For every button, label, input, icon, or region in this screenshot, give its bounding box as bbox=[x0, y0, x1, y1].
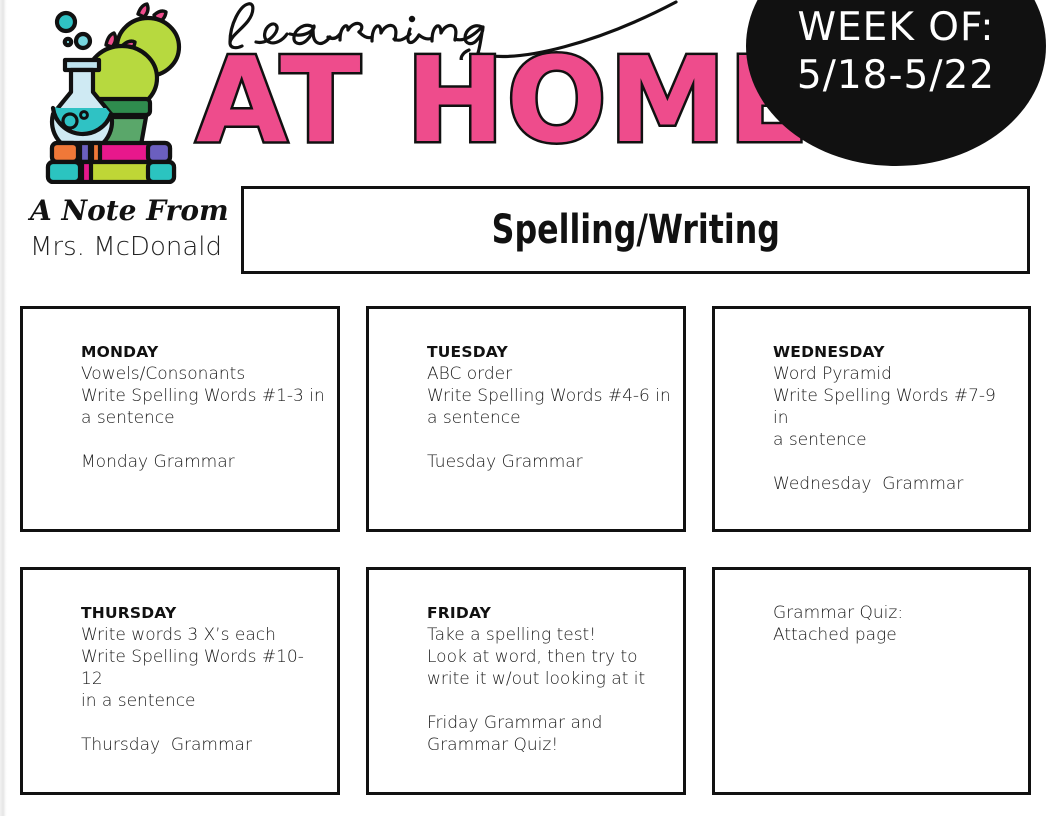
task-line: a sentence bbox=[81, 407, 325, 429]
grammar-note: Thursday Grammar bbox=[81, 734, 325, 756]
grammar-note: Monday Grammar bbox=[81, 451, 325, 473]
day-cell-thursday[interactable]: THURSDAY Write words 3 X’s each Write Sp… bbox=[20, 567, 340, 795]
task-line: Word Pyramid bbox=[773, 363, 1016, 385]
day-label: THURSDAY bbox=[81, 602, 325, 624]
task-line: in a sentence bbox=[81, 690, 325, 712]
task-line: Vowels/Consonants bbox=[81, 363, 325, 385]
blank-line bbox=[773, 451, 1016, 473]
grammar-note: Wednesday Grammar bbox=[773, 473, 1016, 495]
task-line: a sentence bbox=[773, 429, 1016, 451]
worksheet-page: AT HOME WEEK OF: 5/18-5/22 A Note From M… bbox=[0, 0, 1056, 816]
task-line: Write Spelling Words #7-9 in bbox=[773, 385, 1016, 429]
grammar-note: Friday Grammar and Grammar Quiz! bbox=[427, 712, 671, 756]
day-cell-tuesday[interactable]: TUESDAY ABC order Write Spelling Words #… bbox=[366, 306, 686, 532]
day-label: TUESDAY bbox=[427, 341, 671, 363]
task-line: Take a spelling test! bbox=[427, 624, 671, 646]
day-label: MONDAY bbox=[81, 341, 325, 363]
task-line: ABC order bbox=[427, 363, 671, 385]
blank-line bbox=[427, 429, 671, 451]
task-line: Write words 3 X’s each bbox=[81, 624, 325, 646]
task-line: write it w/out looking at it bbox=[427, 668, 671, 690]
grammar-note: Tuesday Grammar bbox=[427, 451, 671, 473]
day-cell-monday[interactable]: MONDAY Vowels/Consonants Write Spelling … bbox=[20, 306, 340, 532]
blank-line bbox=[81, 712, 325, 734]
task-line: a sentence bbox=[427, 407, 671, 429]
extra-cell-grammar-quiz[interactable]: Grammar Quiz: Attached page bbox=[712, 567, 1031, 795]
weekly-grid: MONDAY Vowels/Consonants Write Spelling … bbox=[0, 0, 1056, 816]
blank-line bbox=[427, 690, 671, 712]
day-label: WEDNESDAY bbox=[773, 341, 1016, 363]
quiz-line: Attached page bbox=[773, 624, 1016, 646]
task-line: Look at word, then try to bbox=[427, 646, 671, 668]
task-line: Write Spelling Words #10-12 bbox=[81, 646, 325, 690]
day-label: FRIDAY bbox=[427, 602, 671, 624]
quiz-line: Grammar Quiz: bbox=[773, 602, 1016, 624]
day-cell-friday[interactable]: FRIDAY Take a spelling test! Look at wor… bbox=[366, 567, 686, 795]
day-cell-wednesday[interactable]: WEDNESDAY Word Pyramid Write Spelling Wo… bbox=[712, 306, 1031, 532]
blank-line bbox=[81, 429, 325, 451]
task-line: Write Spelling Words #1-3 in bbox=[81, 385, 325, 407]
task-line: Write Spelling Words #4-6 in bbox=[427, 385, 671, 407]
